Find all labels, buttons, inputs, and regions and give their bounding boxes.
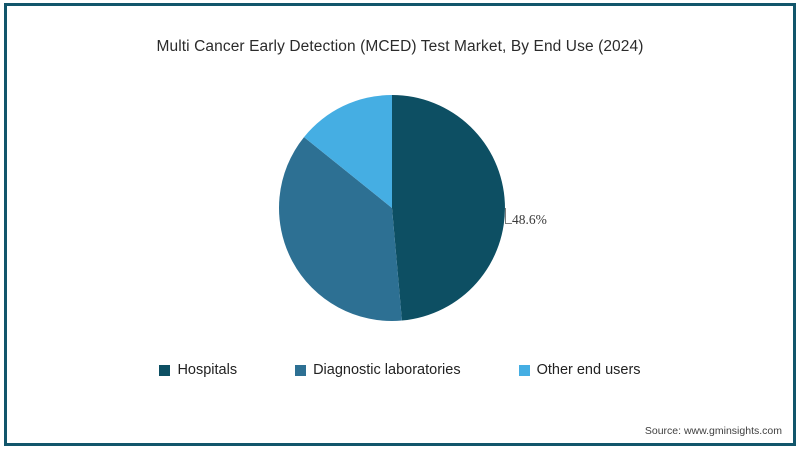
legend-swatch-icon-hospitals <box>159 365 170 376</box>
legend-label-other-end-users: Other end users <box>537 362 641 378</box>
legend-swatch-icon-other-end-users <box>519 365 530 376</box>
data-label-hospitals: 48.6% <box>512 212 547 228</box>
legend-swatch-icon-diagnostic-laboratories <box>295 365 306 376</box>
data-label-leader-line <box>505 208 512 224</box>
legend-label-hospitals: Hospitals <box>177 362 237 378</box>
legend-item-diagnostic-laboratories[interactable]: Diagnostic laboratories <box>295 362 461 378</box>
chart-legend: Hospitals Diagnostic laboratories Other … <box>0 362 800 378</box>
source-attribution: Source: www.gminsights.com <box>645 425 782 437</box>
pie-chart-plot-area: 48.6% <box>0 0 800 450</box>
chart-card: Multi Cancer Early Detection (MCED) Test… <box>0 0 800 450</box>
legend-item-other-end-users[interactable]: Other end users <box>519 362 641 378</box>
pie-slice-hospitals[interactable] <box>392 95 505 321</box>
pie-slices <box>279 95 505 321</box>
legend-label-diagnostic-laboratories: Diagnostic laboratories <box>313 362 461 378</box>
legend-item-hospitals[interactable]: Hospitals <box>159 362 237 378</box>
